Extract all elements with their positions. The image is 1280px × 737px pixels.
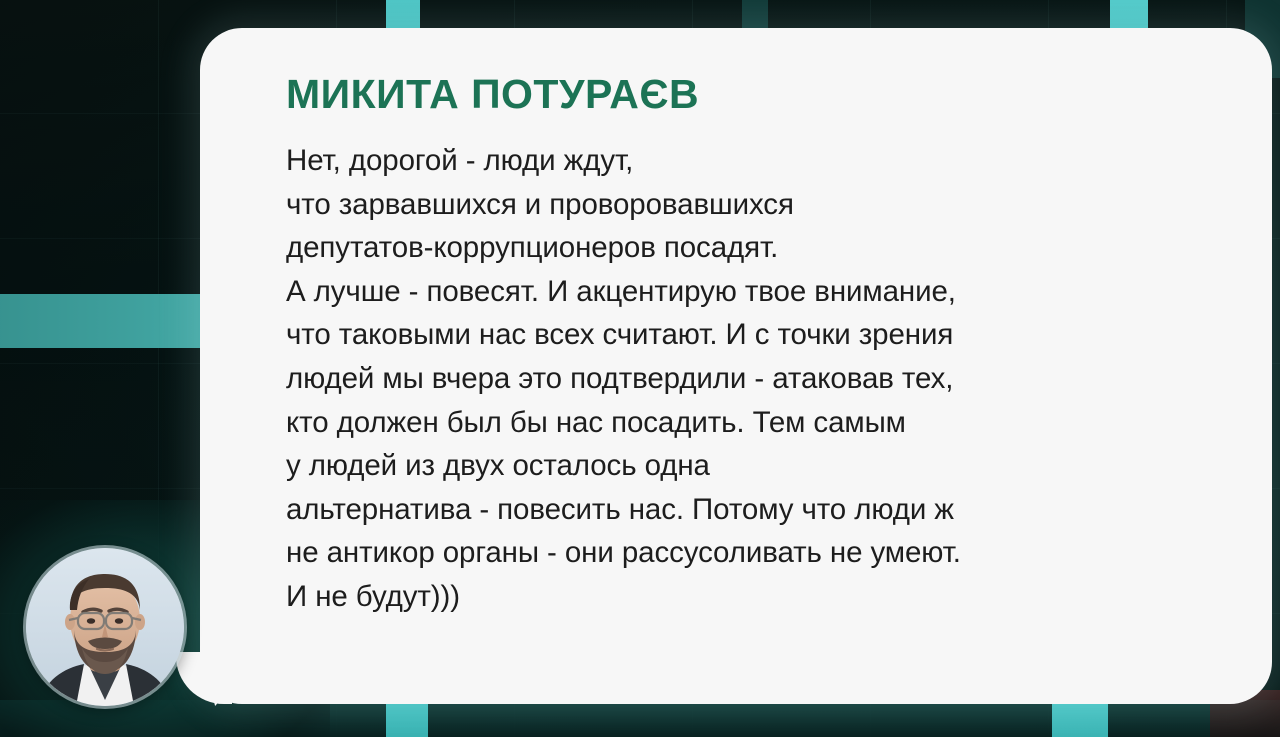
teal-bar-horizontal-left xyxy=(0,294,208,348)
avatar xyxy=(26,548,184,706)
speech-bubble: МИКИТА ПОТУРАЄВ Нет, дорогой - люди ждут… xyxy=(200,28,1272,704)
teal-bar-vertical-bottom-left xyxy=(386,704,428,737)
broadcast-quote-card: МИКИТА ПОТУРАЄВ Нет, дорогой - люди ждут… xyxy=(0,0,1280,737)
quote-text: Нет, дорогой - люди ждут, что зарвавшихс… xyxy=(286,139,1244,619)
speech-bubble-tail xyxy=(193,660,255,706)
speaker-name: МИКИТА ПОТУРАЄВ xyxy=(286,72,1244,117)
teal-bar-vertical-bottom-right xyxy=(1052,704,1108,737)
